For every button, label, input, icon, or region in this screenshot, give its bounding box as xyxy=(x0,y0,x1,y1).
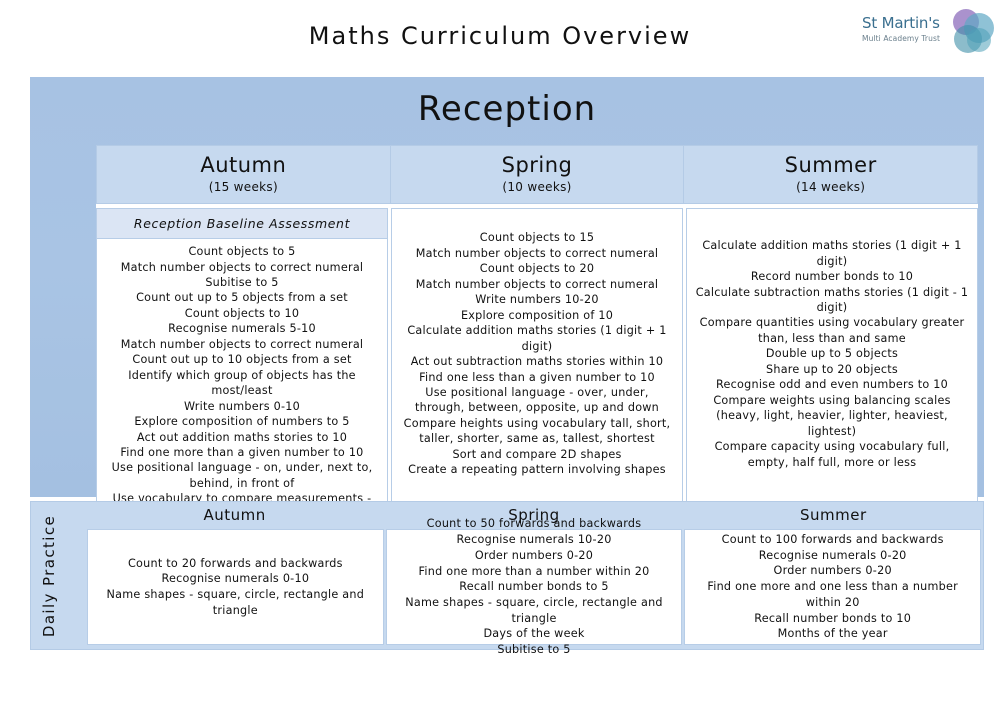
objective-item: Name shapes - square, circle, rectangle … xyxy=(94,587,377,618)
objective-item: Count to 50 forwards and backwards xyxy=(393,516,676,532)
daily-header-summer: Summer xyxy=(684,502,983,529)
objective-item: Act out addition maths stories to 10 xyxy=(103,430,381,445)
daily-column-autumn: Count to 20 forwards and backwardsRecogn… xyxy=(87,529,384,645)
objective-item: Find one more and one less than a number… xyxy=(691,579,974,610)
daily-practice-grid: Autumn Spring Summer Count to 20 forward… xyxy=(85,502,983,649)
term-column-autumn: Reception Baseline Assessment Count obje… xyxy=(96,208,388,545)
objective-item: Recognise odd and even numbers to 10 xyxy=(693,377,971,392)
objective-item: Identify which group of objects has the … xyxy=(103,368,381,399)
objective-item: Calculate addition maths stories (1 digi… xyxy=(693,238,971,269)
term-header-autumn: Autumn (15 weeks) xyxy=(97,146,391,203)
objective-item: Recognise numerals 0-10 xyxy=(94,571,377,587)
objective-item: Count to 100 forwards and backwards xyxy=(691,532,974,548)
trust-logo: St Martin's Multi Academy Trust xyxy=(862,8,994,60)
curriculum-overview-page: Maths Curriculum Overview St Martin's Mu… xyxy=(0,0,1000,707)
logo-name: St Martin's xyxy=(862,16,952,32)
daily-body-row: Count to 20 forwards and backwardsRecogn… xyxy=(85,529,983,647)
daily-header-autumn: Autumn xyxy=(85,502,384,529)
objective-item: Compare quantities using vocabulary grea… xyxy=(693,315,971,346)
daily-practice-label-text: Daily Practice xyxy=(40,514,58,636)
objective-item: Order numbers 0-20 xyxy=(393,548,676,564)
stage-band: Reception Autumn (15 weeks) Spring (10 w… xyxy=(30,77,984,497)
objective-item: Write numbers 0-10 xyxy=(103,399,381,414)
objective-item: Name shapes - square, circle, rectangle … xyxy=(393,595,676,626)
objective-item: Match number objects to correct numeral xyxy=(103,337,381,352)
objective-item: Create a repeating pattern involving sha… xyxy=(398,462,676,477)
objective-item: Match number objects to correct numeral xyxy=(398,246,676,261)
daily-column-spring: Count to 50 forwards and backwardsRecogn… xyxy=(386,529,683,645)
objective-item: Write numbers 10-20 xyxy=(398,292,676,307)
objective-item: Find one more than a given number to 10 xyxy=(103,445,381,460)
logo-text-block: St Martin's Multi Academy Trust xyxy=(862,16,952,43)
logo-subtitle: Multi Academy Trust xyxy=(862,34,952,43)
objective-item: Count objects to 15 xyxy=(398,230,676,245)
objective-item: Match number objects to correct numeral xyxy=(103,260,381,275)
objective-item: Count objects to 5 xyxy=(103,244,381,259)
objective-item: Recall number bonds to 5 xyxy=(393,579,676,595)
objective-item: Calculate subtraction maths stories (1 d… xyxy=(693,285,971,316)
objective-item: Count objects to 10 xyxy=(103,306,381,321)
objective-item: Share up to 20 objects xyxy=(693,362,971,377)
objective-item: Subitise to 5 xyxy=(393,642,676,658)
term-grid: Autumn (15 weeks) Spring (10 weeks) Summ… xyxy=(96,145,978,545)
baseline-assessment-label: Reception Baseline Assessment xyxy=(97,209,387,239)
objective-item: Count out up to 10 objects from a set xyxy=(103,352,381,367)
objective-item: Count out up to 5 objects from a set xyxy=(103,290,381,305)
term-column-summer: Calculate addition maths stories (1 digi… xyxy=(686,208,978,545)
objective-item: Days of the week xyxy=(393,626,676,642)
objective-item: Compare heights using vocabulary tall, s… xyxy=(398,416,676,447)
objective-item: Subitise to 5 xyxy=(103,275,381,290)
objective-item: Double up to 5 objects xyxy=(693,346,971,361)
objective-item: Use positional language - over, under, t… xyxy=(398,385,676,416)
term-body-row: Reception Baseline Assessment Count obje… xyxy=(96,208,978,545)
term-name: Autumn xyxy=(101,154,386,177)
objective-item: Act out subtraction maths stories within… xyxy=(398,354,676,369)
objective-list-summer: Calculate addition maths stories (1 digi… xyxy=(687,209,977,500)
daily-column-summer: Count to 100 forwards and backwardsRecog… xyxy=(684,529,981,645)
term-column-spring: Count objects to 15Match number objects … xyxy=(391,208,683,545)
daily-objective-list-spring: Count to 50 forwards and backwardsRecogn… xyxy=(387,514,682,659)
daily-objective-list-summer: Count to 100 forwards and backwardsRecog… xyxy=(685,530,980,644)
objective-item: Sort and compare 2D shapes xyxy=(398,447,676,462)
document-header: Maths Curriculum Overview St Martin's Mu… xyxy=(0,0,1000,77)
objective-list-spring: Count objects to 15Match number objects … xyxy=(392,209,682,500)
objective-item: Compare weights using balancing scales (… xyxy=(693,393,971,439)
objective-item: Find one more than a number within 20 xyxy=(393,564,676,580)
page-title: Maths Curriculum Overview xyxy=(0,22,1000,50)
term-name: Summer xyxy=(688,154,973,177)
term-header-spring: Spring (10 weeks) xyxy=(391,146,685,203)
term-header-row: Autumn (15 weeks) Spring (10 weeks) Summ… xyxy=(96,145,978,204)
term-header-summer: Summer (14 weeks) xyxy=(684,146,977,203)
objective-item: Calculate addition maths stories (1 digi… xyxy=(398,323,676,354)
objective-item: Recognise numerals 5-10 xyxy=(103,321,381,336)
objective-item: Explore composition of numbers to 5 xyxy=(103,414,381,429)
term-weeks: (15 weeks) xyxy=(101,180,386,194)
objective-item: Compare capacity using vocabulary full, … xyxy=(693,439,971,470)
objective-item: Months of the year xyxy=(691,626,974,642)
objective-item: Recall number bonds to 10 xyxy=(691,611,974,627)
stage-title: Reception xyxy=(30,89,984,129)
objective-item: Explore composition of 10 xyxy=(398,308,676,323)
term-weeks: (10 weeks) xyxy=(395,180,680,194)
term-name: Spring xyxy=(395,154,680,177)
objective-item: Find one less than a given number to 10 xyxy=(398,370,676,385)
objective-list-autumn: Count objects to 5Match number objects t… xyxy=(97,239,387,544)
daily-objective-list-autumn: Count to 20 forwards and backwardsRecogn… xyxy=(88,554,383,621)
objective-item: Count to 20 forwards and backwards xyxy=(94,556,377,572)
term-weeks: (14 weeks) xyxy=(688,180,973,194)
daily-practice-band: Daily Practice Autumn Spring Summer Coun… xyxy=(30,501,984,650)
objective-item: Recognise numerals 10-20 xyxy=(393,532,676,548)
objective-item: Record number bonds to 10 xyxy=(693,269,971,284)
objective-item: Order numbers 0-20 xyxy=(691,563,974,579)
objective-item: Use positional language - on, under, nex… xyxy=(103,460,381,491)
logo-circles-icon xyxy=(946,8,994,58)
daily-practice-label: Daily Practice xyxy=(31,502,67,649)
objective-item: Count objects to 20 xyxy=(398,261,676,276)
objective-item: Match number objects to correct numeral xyxy=(398,277,676,292)
objective-item: Recognise numerals 0-20 xyxy=(691,548,974,564)
